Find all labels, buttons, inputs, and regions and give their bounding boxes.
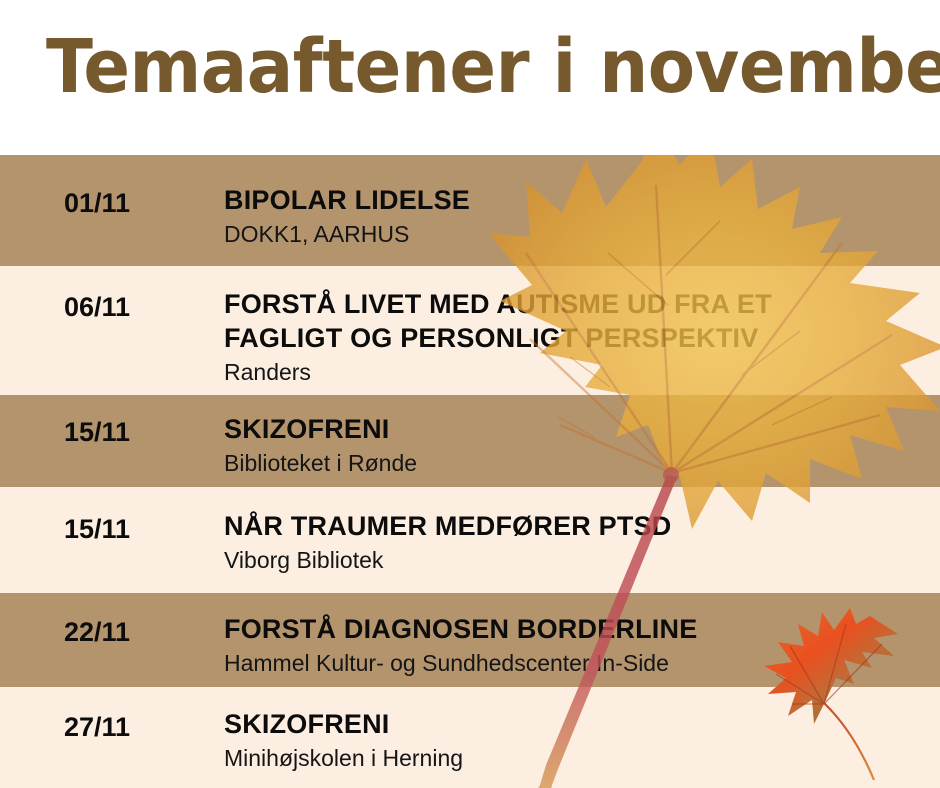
row-body: BIPOLAR LIDELSE DOKK1, AARHUS (224, 183, 930, 249)
row-date: 27/11 (64, 712, 130, 743)
schedule-row-6: 27/11 SKIZOFRENI Minihøjskolen i Herning (0, 687, 940, 788)
schedule-row-5: 22/11 FORSTÅ DIAGNOSEN BORDERLINE Hammel… (0, 593, 940, 687)
row-body: FORSTÅ DIAGNOSEN BORDERLINE Hammel Kultu… (224, 612, 930, 678)
row-title: BIPOLAR LIDELSE (224, 183, 930, 217)
row-venue: Hammel Kultur- og Sundhedscenter In-Side (224, 648, 930, 678)
row-title: SKIZOFRENI (224, 707, 930, 741)
schedule-row-2: 06/11 FORSTÅ LIVET MED AUTISME UD FRA ET… (0, 266, 940, 395)
row-date: 15/11 (64, 417, 130, 448)
schedule-row-3: 15/11 SKIZOFRENI Biblioteket i Rønde (0, 395, 940, 487)
row-venue: Viborg Bibliotek (224, 545, 930, 575)
schedule-row-1: 01/11 BIPOLAR LIDELSE DOKK1, AARHUS (0, 155, 940, 266)
row-date: 15/11 (64, 514, 130, 545)
row-body: SKIZOFRENI Minihøjskolen i Herning (224, 707, 930, 773)
schedule-list: 01/11 BIPOLAR LIDELSE DOKK1, AARHUS 06/1… (0, 155, 940, 788)
title-area: Temaaftener i november (0, 0, 940, 155)
row-venue: DOKK1, AARHUS (224, 219, 930, 249)
schedule-row-4: 15/11 NÅR TRAUMER MEDFØRER PTSD Viborg B… (0, 487, 940, 593)
row-date: 06/11 (64, 292, 130, 323)
row-title: FORSTÅ DIAGNOSEN BORDERLINE (224, 612, 930, 646)
row-date: 01/11 (64, 188, 130, 219)
row-body: NÅR TRAUMER MEDFØRER PTSD Viborg Bibliot… (224, 509, 930, 575)
row-venue: Minihøjskolen i Herning (224, 743, 930, 773)
poster-canvas: 01/11 BIPOLAR LIDELSE DOKK1, AARHUS 06/1… (0, 0, 940, 788)
row-date: 22/11 (64, 617, 130, 648)
page-title: Temaaftener i november (46, 24, 940, 111)
row-title: SKIZOFRENI (224, 412, 930, 446)
row-body: SKIZOFRENI Biblioteket i Rønde (224, 412, 930, 478)
row-venue: Randers (224, 357, 930, 387)
row-title: FORSTÅ LIVET MED AUTISME UD FRA ET FAGLI… (224, 287, 930, 355)
row-body: FORSTÅ LIVET MED AUTISME UD FRA ET FAGLI… (224, 287, 930, 387)
row-title: NÅR TRAUMER MEDFØRER PTSD (224, 509, 930, 543)
row-venue: Biblioteket i Rønde (224, 448, 930, 478)
